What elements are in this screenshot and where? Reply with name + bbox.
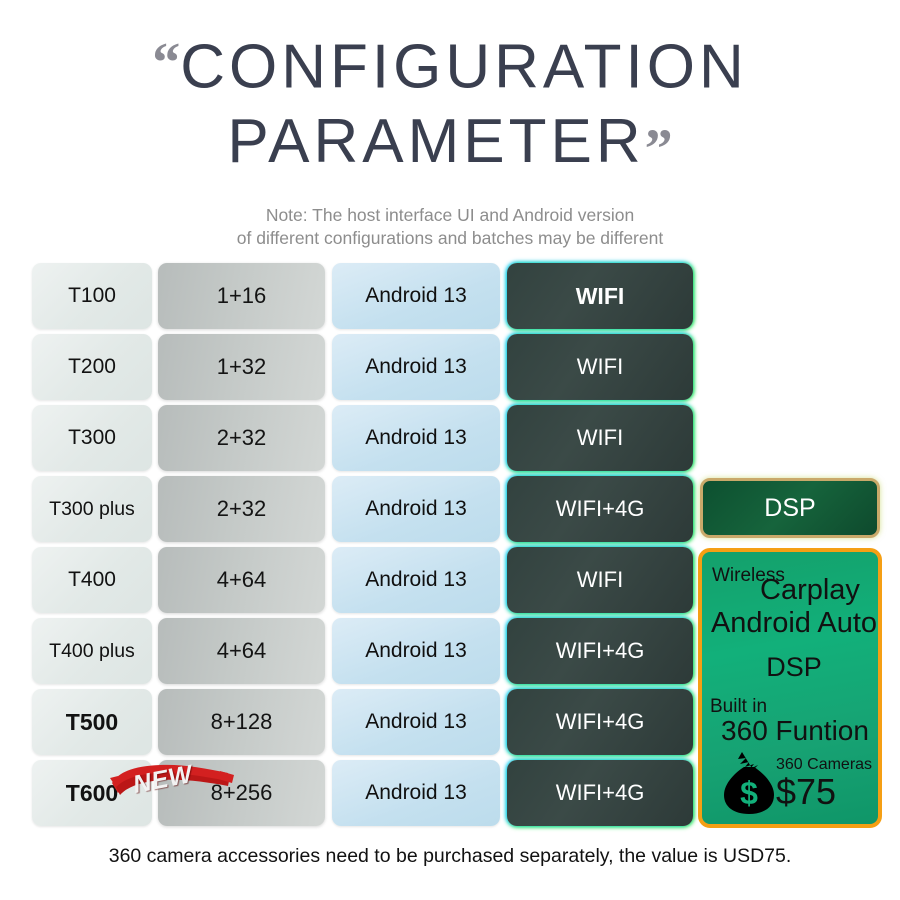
cell-memory: 2+32 <box>158 405 325 471</box>
dsp-feature-box: DSP <box>700 478 880 538</box>
promo-price-label: $75 <box>776 772 836 812</box>
cell-model: T100 <box>32 263 152 329</box>
cell-network: WIFI <box>507 547 693 613</box>
promo-carplay-label: Carplay <box>760 574 860 606</box>
cell-model: T500 <box>32 689 152 755</box>
cell-model: T200 <box>32 334 152 400</box>
note-line-2: of different configurations and batches … <box>0 227 900 250</box>
cell-memory: 8+128 <box>158 689 325 755</box>
cell-model: T300 <box>32 405 152 471</box>
svg-text:$: $ <box>740 775 758 811</box>
cell-os: Android 13 <box>332 618 500 684</box>
cell-os: Android 13 <box>332 334 500 400</box>
promo-360-function-label: 360 Funtion <box>708 715 882 747</box>
cell-network: WIFI <box>507 263 693 329</box>
cell-memory: 2+32 <box>158 476 325 542</box>
close-quote-icon: ” <box>645 118 673 180</box>
table-row: T200 1+32 Android 13 WIFI <box>0 334 900 405</box>
footer-note: 360 camera accessories need to be purcha… <box>0 845 900 868</box>
cell-model: T600 <box>32 760 152 826</box>
cell-os: Android 13 <box>332 689 500 755</box>
table-row: T100 1+16 Android 13 WIFI <box>0 263 900 334</box>
open-quote-icon: “ <box>152 32 180 94</box>
dsp-label: DSP <box>764 494 815 523</box>
cell-os: Android 13 <box>332 476 500 542</box>
cell-os: Android 13 <box>332 547 500 613</box>
cell-network: WIFI+4G <box>507 476 693 542</box>
cell-model: T400 <box>32 547 152 613</box>
title-line-2: PARAMETER” <box>0 105 900 187</box>
cell-model: T400 plus <box>32 618 152 684</box>
cell-network: WIFI+4G <box>507 689 693 755</box>
cell-network: WIFI <box>507 334 693 400</box>
promo-built-in-label: Built in <box>710 696 767 717</box>
page-title: “CONFIGURATION PARAMETER” <box>0 0 900 186</box>
promo-dsp-label: DSP <box>708 652 880 682</box>
cell-os: Android 13 <box>332 760 500 826</box>
cell-memory: 1+16 <box>158 263 325 329</box>
cell-memory: 8+256 <box>158 760 325 826</box>
note-line-1: Note: The host interface UI and Android … <box>0 204 900 227</box>
money-bag-icon: $ <box>718 750 780 816</box>
promo-android-auto-label: Android Auto <box>708 607 880 639</box>
configuration-note: Note: The host interface UI and Android … <box>0 204 900 250</box>
title-text-2: PARAMETER <box>227 107 644 176</box>
cell-os: Android 13 <box>332 263 500 329</box>
cell-os: Android 13 <box>332 405 500 471</box>
cell-network: WIFI+4G <box>507 760 693 826</box>
title-text-1: CONFIGURATION <box>180 33 748 102</box>
table-row: T300 2+32 Android 13 WIFI <box>0 405 900 476</box>
cell-model: T300 plus <box>32 476 152 542</box>
cell-network: WIFI+4G <box>507 618 693 684</box>
cell-memory: 4+64 <box>158 618 325 684</box>
cell-memory: 4+64 <box>158 547 325 613</box>
title-line-1: “CONFIGURATION <box>0 26 900 105</box>
cell-network: WIFI <box>507 405 693 471</box>
cell-memory: 1+32 <box>158 334 325 400</box>
promo-feature-panel: Wireless Carplay Android Auto DSP Built … <box>698 548 882 828</box>
